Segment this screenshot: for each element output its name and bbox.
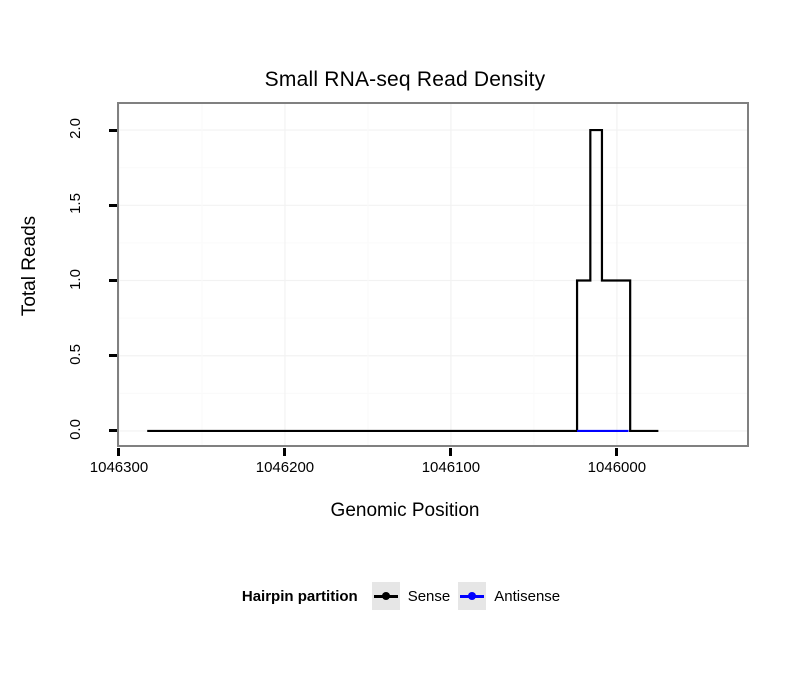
x-tick-label: 1046000 bbox=[557, 459, 677, 476]
legend-label-antisense: Antisense bbox=[494, 588, 560, 605]
y-tick-mark bbox=[109, 204, 117, 207]
y-tick-label: 0.0 bbox=[45, 421, 105, 438]
y-tick-label: 1.0 bbox=[45, 271, 105, 288]
legend-point-sense bbox=[382, 592, 390, 600]
x-tick-mark bbox=[117, 448, 120, 456]
x-tick-mark bbox=[615, 448, 618, 456]
y-tick-label: 0.5 bbox=[45, 346, 105, 363]
y-tick-label-text: 1.0 bbox=[66, 269, 83, 290]
x-tick-label: 1046300 bbox=[59, 459, 179, 476]
y-tick-label-text: 1.5 bbox=[66, 193, 83, 214]
y-tick-mark bbox=[109, 129, 117, 132]
y-tick-mark bbox=[109, 279, 117, 282]
y-tick-label-text: 2.0 bbox=[66, 118, 83, 139]
x-tick-mark bbox=[283, 448, 286, 456]
y-tick-label-text: 0.0 bbox=[66, 419, 83, 440]
legend-label-sense: Sense bbox=[408, 588, 451, 605]
y-tick-label: 2.0 bbox=[45, 120, 105, 137]
legend-item-sense[interactable]: Sense bbox=[372, 582, 451, 610]
x-tick-label: 1046100 bbox=[391, 459, 511, 476]
y-tick-label: 1.5 bbox=[45, 195, 105, 212]
legend: Hairpin partition Sense Antisense bbox=[0, 582, 810, 610]
legend-key-antisense bbox=[458, 582, 486, 610]
x-tick-label: 1046200 bbox=[225, 459, 345, 476]
y-tick-label-text: 0.5 bbox=[66, 344, 83, 365]
y-tick-mark bbox=[109, 429, 117, 432]
legend-point-antisense bbox=[468, 592, 476, 600]
x-tick-mark bbox=[449, 448, 452, 456]
legend-title: Hairpin partition bbox=[242, 588, 358, 605]
chart-container: Small RNA-seq Read Density Total Reads G… bbox=[0, 0, 810, 690]
legend-key-sense bbox=[372, 582, 400, 610]
y-tick-mark bbox=[109, 354, 117, 357]
panel-background bbox=[118, 103, 748, 446]
legend-item-antisense[interactable]: Antisense bbox=[458, 582, 560, 610]
